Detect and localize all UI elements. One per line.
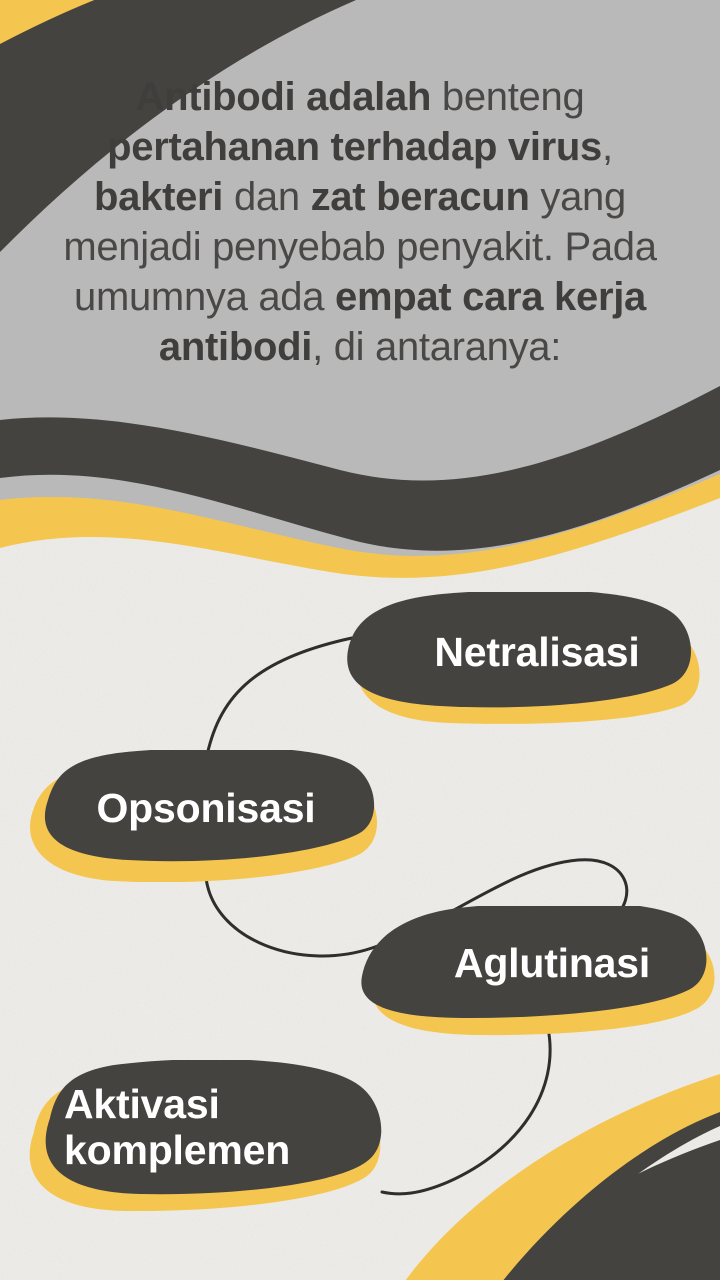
poster-canvas: Antibodi adalah benteng pertahanan terha… xyxy=(0,0,720,1280)
diagram-node-label: Aglutinasi xyxy=(352,941,716,1001)
connector-aglutinasi-aktivasi xyxy=(382,1028,550,1194)
diagram-node-label: Opsonisasi xyxy=(18,786,386,846)
diagram-node-label: Netralisasi xyxy=(336,630,704,686)
diagram-node-aktivasi-komplemen[interactable]: Aktivasi komplemen xyxy=(12,1060,384,1212)
diagram-node-aglutinasi[interactable]: Aglutinasi xyxy=(352,906,716,1036)
diagram-node-label: Aktivasi komplemen xyxy=(12,1081,384,1191)
diagram-node-netralisasi[interactable]: Netralisasi xyxy=(336,592,704,724)
diagram-node-opsonisasi[interactable]: Opsonisasi xyxy=(18,750,386,882)
connector-opsonisasi-netralisasi xyxy=(206,638,352,760)
